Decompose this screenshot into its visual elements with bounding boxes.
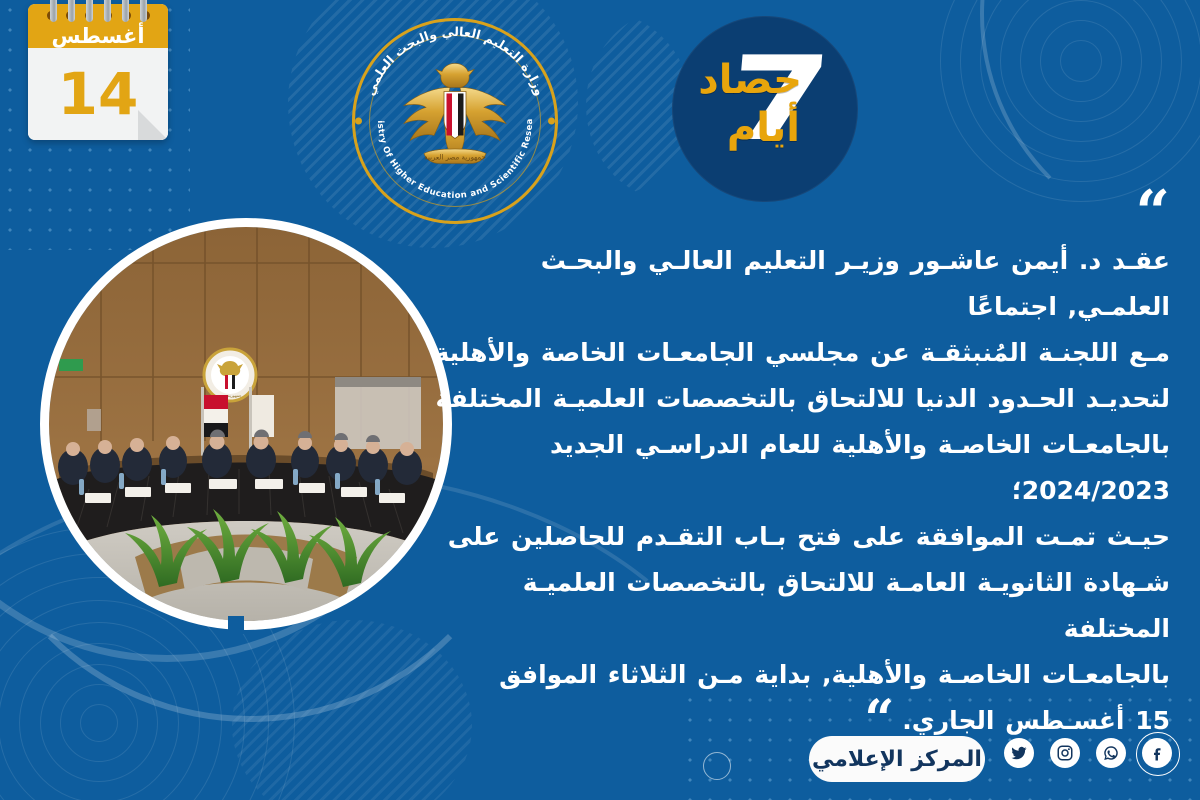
quote-line: لتحديـد الحـدود الدنيا للالتحاق بالتخصصا…	[430, 376, 1170, 422]
news-photo-ring	[40, 218, 452, 630]
news-quote-text: عقـد د. أيمن عاشـور وزيـر التعليم العالـ…	[430, 238, 1170, 744]
quote-line: عقـد د. أيمن عاشـور وزيـر التعليم العالـ…	[430, 238, 1170, 330]
program-logo-inner: 7 حصاد أيام	[690, 34, 840, 184]
ministry-logo: وزارة التعليم العالي والبحث العلمي Minis…	[352, 18, 558, 224]
quote-line: بالجامعـات الخاصـة والأهلية, بداية مـن ا…	[430, 652, 1170, 698]
egypt-eagle-emblem-icon: جمهورية مصر العربية	[392, 55, 518, 181]
news-photo-ring-notch	[228, 616, 244, 634]
instagram-icon[interactable]	[1050, 738, 1080, 768]
media-center-badge: المركز الإعلامي	[809, 736, 985, 782]
whatsapp-icon[interactable]	[1096, 738, 1126, 768]
calendar-page-fold	[138, 110, 168, 140]
decorative-circle-outline	[703, 752, 731, 780]
quote-line: 15 أغسـطس الجاري.	[902, 706, 1170, 735]
program-logo-word-top: حصاد	[698, 60, 802, 100]
twitter-icon[interactable]	[1004, 738, 1034, 768]
quote-line: حيـث تمـت الموافقة على فتح بـاب التقـدم …	[430, 514, 1170, 560]
news-quote-block: “ عقـد د. أيمن عاشـور وزيـر التعليم العا…	[430, 196, 1170, 744]
facebook-icon[interactable]	[1142, 738, 1172, 768]
calendar-widget: أغسطس 14	[28, 4, 168, 140]
poster-canvas: أغسطس 14 وزارة التعليم العالي والبحث الع…	[0, 0, 1200, 800]
calendar-body: أغسطس 14	[28, 4, 168, 140]
quote-close-mark: “	[864, 710, 894, 730]
program-logo-hasad-ayam: 7 حصاد أيام	[672, 16, 858, 202]
quote-line: مـع اللجنـة المُنبثقـة عن مجلسي الجامعـا…	[430, 330, 1170, 376]
quote-open-mark: “	[430, 196, 1170, 238]
program-logo-word-bottom: أيام	[727, 108, 800, 148]
quote-line: شـهادة الثانويـة العامـة للالتحاق بالتخص…	[430, 560, 1170, 652]
media-center-label: المركز الإعلامي	[812, 747, 982, 772]
svg-text:جمهورية مصر العربية: جمهورية مصر العربية	[424, 153, 486, 161]
calendar-spiral-binding	[28, 0, 168, 22]
quote-line: بالجامعـات الخاصـة والأهلية للعام الدراس…	[430, 422, 1170, 514]
calendar-month-label: أغسطس	[28, 25, 168, 47]
news-photo: جمهورية مصر	[40, 218, 452, 630]
social-links	[1004, 738, 1172, 768]
